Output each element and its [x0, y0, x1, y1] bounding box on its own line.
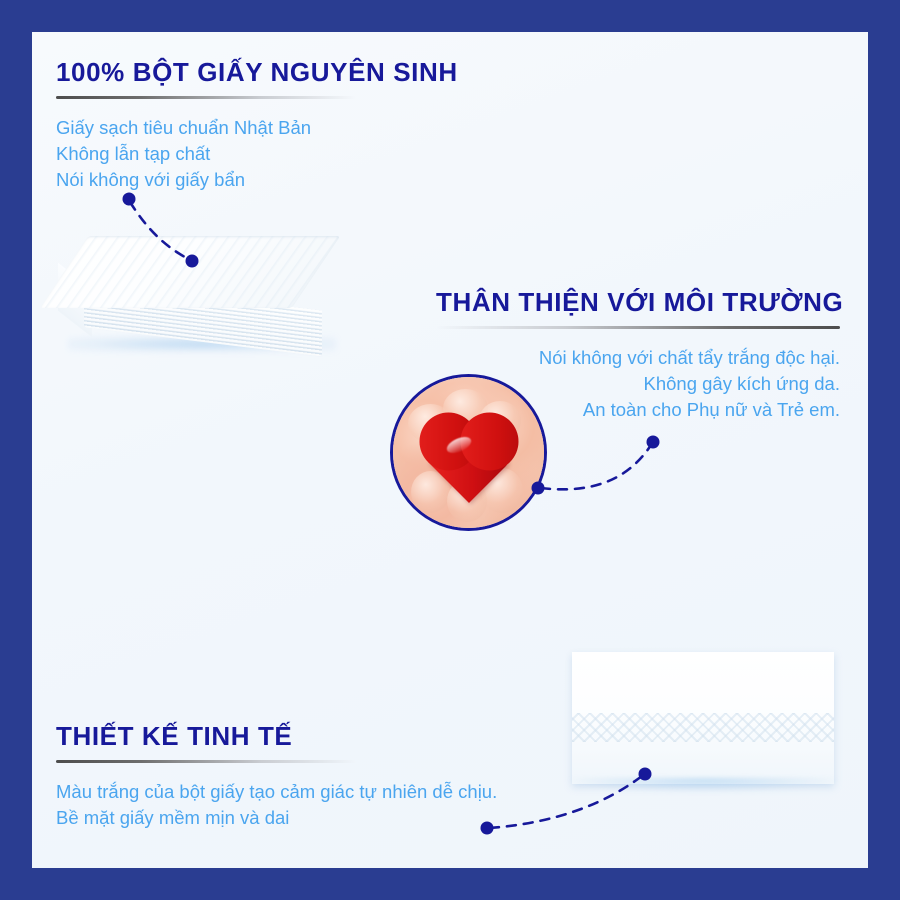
- tissue-sheet-surface: [572, 652, 834, 784]
- baby-hands-heart-photo: [390, 374, 547, 531]
- connector-path-eco-friendly: [541, 445, 651, 489]
- body-line: Màu trắng của bột giấy tạo cảm giác tự n…: [56, 779, 497, 805]
- tissue-sheet-photo: [572, 652, 834, 784]
- section-refined-design-body: Màu trắng của bột giấy tạo cảm giác tự n…: [56, 779, 497, 832]
- connector-dot-eco-friendly-text: [647, 436, 660, 449]
- body-line: Nói không với chất tẩy trắng độc hại.: [436, 345, 840, 371]
- tissue-stack-photo: [46, 232, 356, 367]
- section-eco-friendly-heading: THÂN THIỆN VỚI MÔI TRƯỜNG: [436, 288, 840, 317]
- body-line: Nói không với giấy bẩn: [56, 167, 458, 193]
- connector-dot-pure-pulp-text: [123, 193, 136, 206]
- body-line: Không lẫn tạp chất: [56, 141, 458, 167]
- section-refined-design: THIẾT KẾ TINH TẾ Màu trắng của bột giấy …: [56, 722, 497, 831]
- infographic-canvas: 100% BỘT GIẤY NGUYÊN SINH Giấy sạch tiêu…: [32, 32, 868, 868]
- body-line: Bề mặt giấy mềm mịn và dai: [56, 805, 497, 831]
- section-pure-pulp-underline: [56, 96, 356, 99]
- section-refined-design-heading: THIẾT KẾ TINH TẾ: [56, 722, 497, 751]
- tissue-sheet-emboss-pattern: [572, 713, 834, 742]
- section-pure-pulp: 100% BỘT GIẤY NGUYÊN SINH Giấy sạch tiêu…: [56, 58, 458, 193]
- section-eco-friendly-underline: [436, 326, 840, 329]
- section-pure-pulp-body: Giấy sạch tiêu chuẩn Nhật Bản Không lẫn …: [56, 115, 458, 194]
- section-pure-pulp-heading: 100% BỘT GIẤY NGUYÊN SINH: [56, 58, 458, 87]
- tissue-stack-top-grain: [40, 236, 341, 308]
- tissue-sheet-shadow: [568, 778, 840, 792]
- section-refined-design-underline: [56, 760, 356, 763]
- body-line: Giấy sạch tiêu chuẩn Nhật Bản: [56, 115, 458, 141]
- infographic-page: 100% BỘT GIẤY NGUYÊN SINH Giấy sạch tiêu…: [0, 0, 900, 900]
